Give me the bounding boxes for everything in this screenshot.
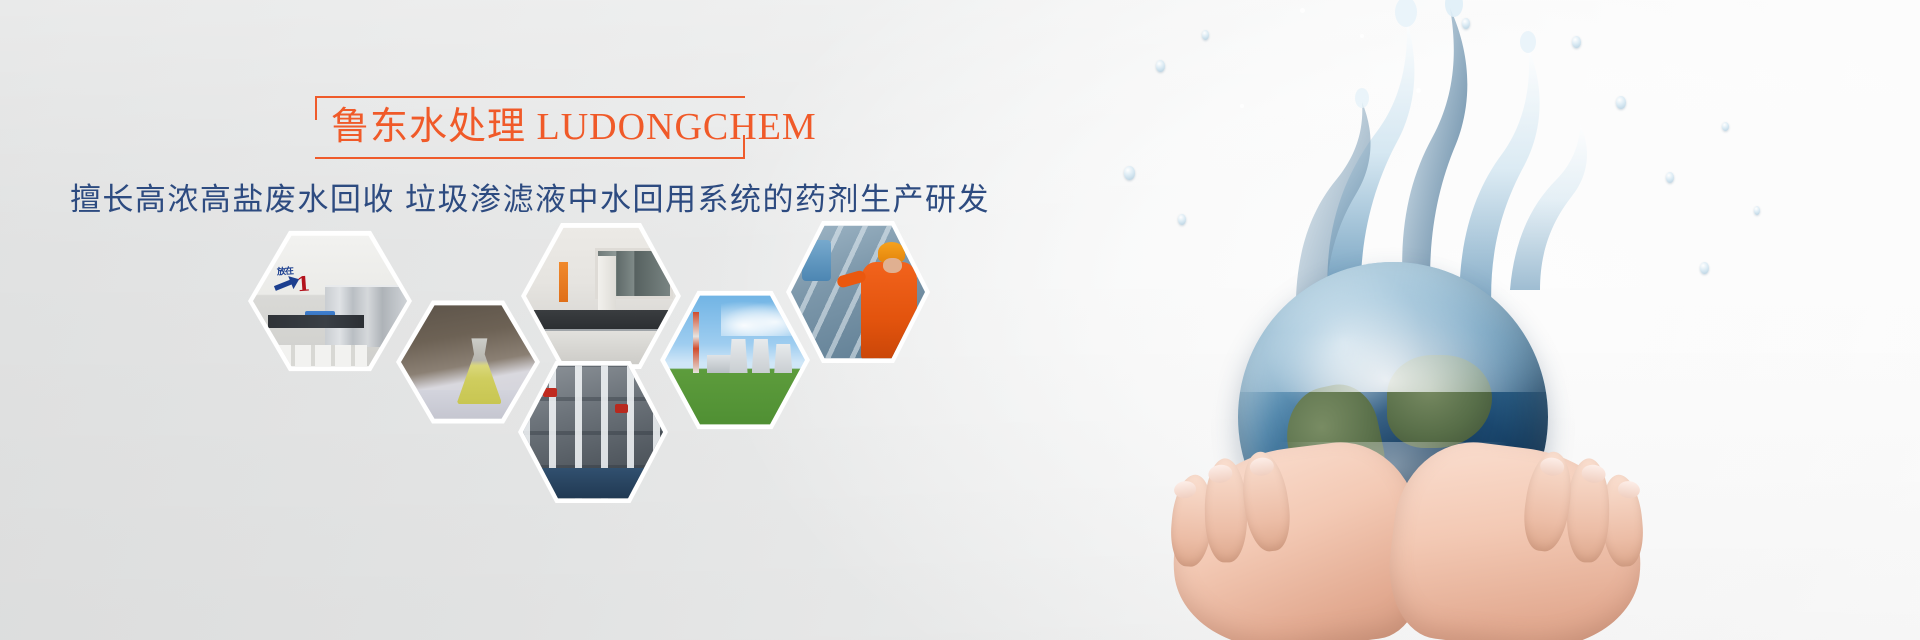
hexagon-gallery: 放在 1 <box>0 0 1060 640</box>
valve-red-upper <box>543 388 557 398</box>
hero-banner: 鲁东水处理 LUDONGCHEM 擅长高浓高盐废水回收 垃圾渗滤液中水回用系统的… <box>0 0 1920 640</box>
droplet <box>1178 214 1186 225</box>
wall-slogan: 放在 1 <box>272 261 333 303</box>
worker-body <box>861 262 917 361</box>
cooling-tower-2 <box>752 339 770 374</box>
blue-equipment <box>802 240 831 281</box>
lab-orange-stand <box>559 262 568 302</box>
lab-containers <box>275 345 367 367</box>
hex-tile-worker[interactable] <box>786 218 930 366</box>
cupped-hands <box>1172 418 1642 640</box>
droplet <box>1124 166 1135 180</box>
cooling-tower-3 <box>774 344 792 373</box>
spray-dot <box>1360 34 1364 38</box>
lab-bench <box>526 310 676 328</box>
hand-right <box>1381 434 1654 640</box>
droplet <box>1666 172 1674 183</box>
hex-tile-yellow-flask[interactable] <box>396 298 540 426</box>
cooling-tower-1 <box>729 339 747 374</box>
droplet <box>1462 18 1470 29</box>
hex-tile-power-plant[interactable] <box>660 288 810 432</box>
spray-dot <box>1416 88 1421 93</box>
spray-dot <box>1300 8 1305 13</box>
steam-cloud <box>721 301 798 336</box>
erlenmeyer-flask <box>457 338 501 404</box>
droplet <box>1700 262 1709 274</box>
photo-piping-plant <box>523 363 663 501</box>
hex-tile-piping-plant[interactable] <box>518 358 668 506</box>
valve-red-lower <box>615 404 628 412</box>
photo-yellow-flask <box>401 303 535 421</box>
water-globe-artwork <box>1060 0 1920 640</box>
photo-lab-glassware <box>526 225 676 367</box>
chimney-stack <box>693 312 699 374</box>
hex-tile-lab-room[interactable]: 放在 1 <box>248 228 412 374</box>
droplet <box>1156 60 1165 72</box>
photo-worker <box>791 223 925 361</box>
spray-dot <box>1240 104 1244 108</box>
droplet <box>1722 122 1729 131</box>
droplet <box>1616 96 1626 109</box>
hex-tile-lab-glassware[interactable] <box>521 220 681 372</box>
worker-face <box>883 258 902 273</box>
pipe-base <box>523 468 663 501</box>
slogan-red-text: 1 <box>296 274 311 295</box>
droplet <box>1754 206 1760 215</box>
globe-water-surface <box>1238 262 1548 392</box>
slogan-arrow-icon <box>274 278 294 290</box>
photo-power-plant <box>665 293 805 427</box>
lab-instrument <box>305 311 334 325</box>
photo-lab-room: 放在 1 <box>253 233 407 369</box>
droplet <box>1202 30 1209 40</box>
droplet <box>1572 36 1581 48</box>
